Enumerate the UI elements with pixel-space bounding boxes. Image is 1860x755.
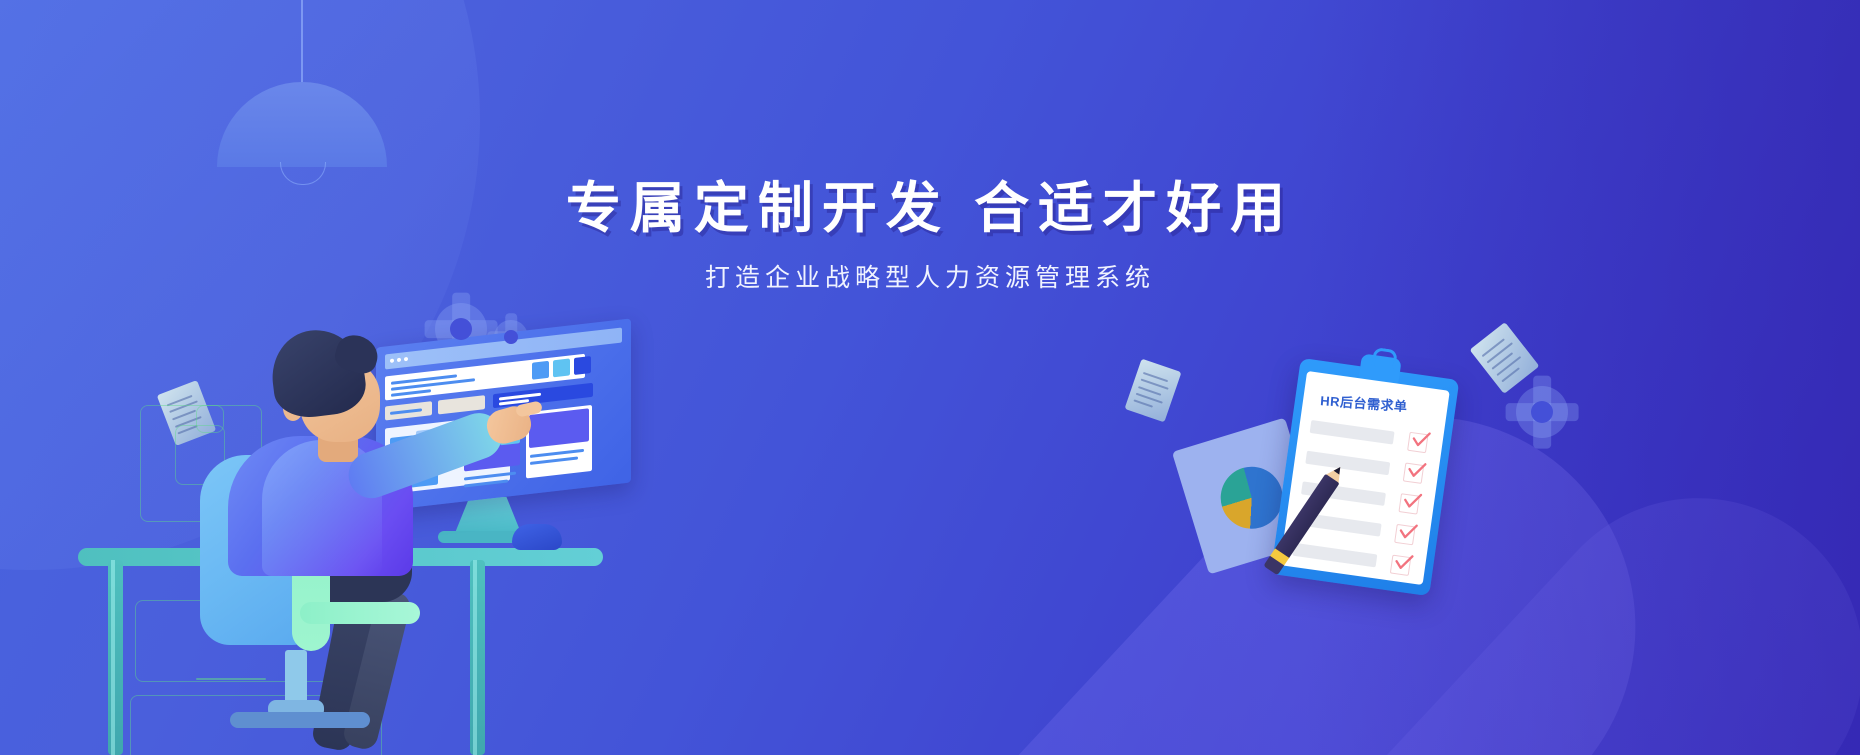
content-chip: [532, 361, 549, 380]
wireframe-decoration: [196, 678, 266, 680]
clipboard-row: [1305, 451, 1390, 476]
pendant-lamp-icon: [217, 0, 387, 169]
checkbox-checked-icon: [1390, 555, 1411, 576]
banner-subheadline: 打造企业战略型人力资源管理系统: [0, 258, 1860, 294]
document-icon: [1125, 359, 1182, 423]
chair-armrest: [300, 602, 420, 624]
clipboard-row: [1292, 543, 1377, 568]
clipboard-illustration: HR后台需求单: [1271, 358, 1460, 596]
content-chip: [553, 358, 570, 377]
window-control-dots: [390, 357, 408, 363]
checkbox-checked-icon: [1407, 432, 1428, 453]
banner-headline: 专属定制开发 合适才好用: [0, 176, 1860, 241]
computer-mouse-icon: [512, 524, 562, 550]
chair-wheel-base: [230, 712, 370, 728]
banner-copy: 专属定制开发 合适才好用 打造企业战略型人力资源管理系统: [0, 176, 1860, 294]
checkbox-checked-icon: [1398, 493, 1419, 514]
content-card: [526, 405, 592, 479]
clipboard-title: HR后台需求单: [1320, 390, 1408, 415]
lamp-cord: [301, 0, 303, 86]
content-chip: [493, 383, 593, 408]
wireframe-decoration: [196, 405, 224, 433]
clipboard-paper: HR后台需求单: [1280, 371, 1450, 585]
clipboard-row: [1310, 420, 1395, 445]
lamp-shade: [217, 82, 387, 167]
desk-leg: [470, 560, 485, 755]
content-card: [438, 395, 485, 414]
content-chip: [574, 356, 591, 375]
checkbox-checked-icon: [1403, 462, 1424, 483]
content-card: [385, 401, 432, 420]
desk-leg: [108, 560, 123, 755]
gear-icon: [1516, 386, 1568, 438]
monitor-stand: [455, 497, 521, 533]
checkbox-checked-icon: [1394, 524, 1415, 545]
hero-banner: 专属定制开发 合适才好用 打造企业战略型人力资源管理系统: [0, 0, 1860, 755]
